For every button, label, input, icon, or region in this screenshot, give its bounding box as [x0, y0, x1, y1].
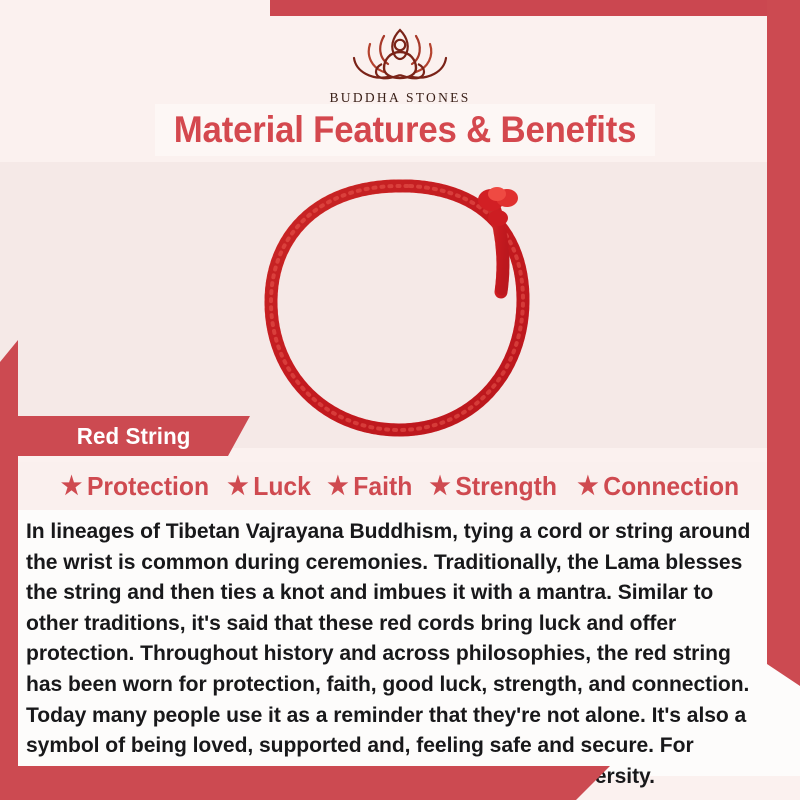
benefit-item-faith: ★ Faith	[321, 471, 417, 502]
benefit-label: Connection	[603, 471, 739, 502]
benefit-item-luck: ★ Luck	[221, 471, 316, 502]
benefit-label: Luck	[253, 471, 311, 502]
lotus-meditation-icon	[332, 20, 468, 86]
star-icon: ★	[327, 474, 348, 499]
benefit-item-connection: ★ Connection	[571, 471, 744, 502]
brand-logo: BUDDHA STONES	[0, 20, 800, 106]
benefit-item-strength: ★ Strength	[424, 471, 563, 502]
star-icon: ★	[577, 474, 598, 499]
description-paragraph: In lineages of Tibetan Vajrayana Buddhis…	[26, 516, 753, 791]
frame-bottom-bar	[0, 766, 610, 800]
title-banner: Material Features & Benefits	[155, 104, 655, 156]
benefit-label: Faith	[353, 471, 412, 502]
star-icon: ★	[227, 474, 248, 499]
star-icon: ★	[61, 474, 82, 499]
product-info-poster: BUDDHA STONES Material Features & Benefi…	[0, 0, 800, 800]
product-stage	[0, 162, 800, 448]
frame-right-bar	[767, 0, 800, 686]
description-block: In lineages of Tibetan Vajrayana Buddhis…	[0, 510, 800, 776]
page-title: Material Features & Benefits	[174, 109, 636, 151]
benefit-item-protection: ★ Protection	[55, 471, 215, 502]
benefits-row: ★ Protection ★ Luck ★ Faith ★ Strength ★…	[0, 462, 800, 510]
product-label-text: Red String	[77, 423, 191, 450]
product-label-banner: Red String	[18, 416, 250, 456]
frame-top-gap	[0, 0, 270, 16]
star-icon: ★	[430, 474, 451, 499]
benefit-label: Strength	[456, 471, 558, 502]
frame-left-bar	[0, 340, 18, 800]
red-braided-string-bracelet-icon	[235, 168, 565, 448]
benefit-label: Protection	[87, 471, 209, 502]
